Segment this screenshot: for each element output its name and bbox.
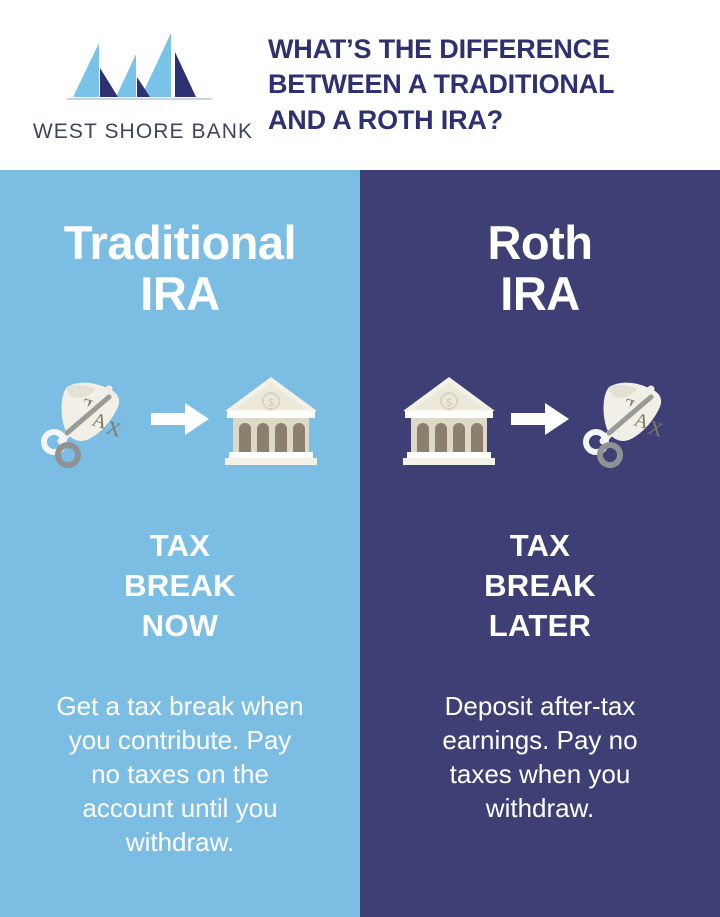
page-title: WHAT’S THE DIFFERENCE BETWEEN A TRADITIO… [268,32,720,139]
headline-line-3: AND A ROTH IRA? [268,103,706,139]
panel-traditional-kicker-line3: NOW [124,606,236,646]
arrow-right-icon [509,399,571,439]
panel-traditional-kicker-line1: TAX [124,526,236,566]
headline-line-2: BETWEEN A TRADITIONAL [268,67,706,103]
panel-roth-kicker: TAX BREAK LATER [484,526,596,647]
sailboat-sails-logo-icon [63,27,223,113]
panel-traditional-title: Traditional IRA [64,218,296,320]
panel-roth-flow: $ [380,364,700,474]
panel-roth-kicker-line3: LATER [484,606,596,646]
panel-traditional-title-line1: Traditional [64,216,296,269]
tax-scissors-icon: T A X [37,367,141,471]
panel-roth-ira: Roth IRA $ [360,170,720,917]
header: WEST SHORE BANK WHAT’S THE DIFFERENCE BE… [0,0,720,170]
panel-roth-title-line1: Roth [487,216,592,269]
bank-building-icon: $ [397,367,501,471]
panel-roth-body: Deposit after-tax earnings. Pay no taxes… [410,690,670,825]
infographic-root: WEST SHORE BANK WHAT’S THE DIFFERENCE BE… [0,0,720,917]
svg-text:$: $ [446,397,452,409]
svg-text:$: $ [268,397,274,409]
comparison-panels: Traditional IRA T A X [0,170,720,917]
panel-traditional-ira: Traditional IRA T A X [0,170,360,917]
brand-name: WEST SHORE BANK [33,120,253,144]
bank-building-icon: $ [219,367,323,471]
panel-roth-kicker-line1: TAX [484,526,596,566]
panel-traditional-kicker-line2: BREAK [124,566,236,606]
panel-roth-kicker-line2: BREAK [484,566,596,606]
arrow-right-icon [149,399,211,439]
panel-roth-title-line2: IRA [487,269,592,320]
brand-block: WEST SHORE BANK [18,27,268,144]
panel-traditional-kicker: TAX BREAK NOW [124,526,236,647]
panel-traditional-body: Get a tax break when you contribute. Pay… [55,690,305,859]
headline-line-1: WHAT’S THE DIFFERENCE [268,32,706,68]
panel-traditional-title-line2: IRA [64,269,296,320]
tax-scissors-icon: T A X [579,367,683,471]
panel-roth-title: Roth IRA [487,218,592,320]
panel-traditional-flow: T A X [20,364,340,474]
